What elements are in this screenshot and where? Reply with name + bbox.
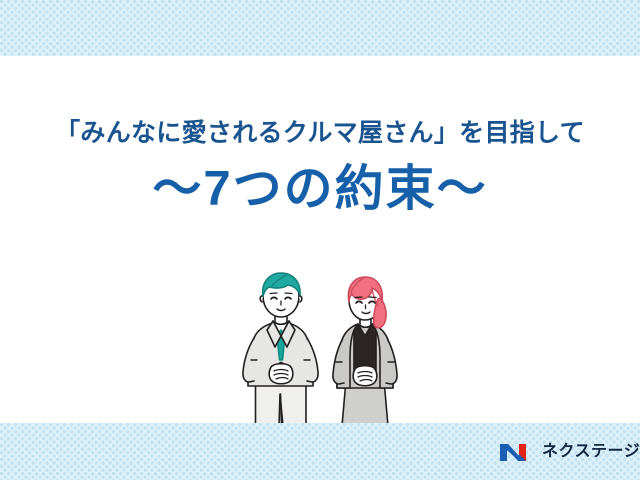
male-staff-figure — [243, 273, 318, 426]
nextage-logo: ネクステージ — [499, 440, 640, 464]
female-staff-figure — [333, 277, 397, 426]
nextage-n-mark — [499, 440, 535, 464]
headline-line-2: 〜7つの約束〜 — [0, 161, 640, 219]
top-decorative-band — [0, 0, 640, 56]
headline-block: 「みんなに愛されるクルマ屋さん」を目指して 〜7つの約束〜 — [0, 118, 640, 219]
slide-canvas: 「みんなに愛されるクルマ屋さん」を目指して 〜7つの約束〜 — [0, 0, 640, 480]
headline-line-1: 「みんなに愛されるクルマ屋さん」を目指して — [0, 118, 640, 149]
two-staff-bowing-illustration — [236, 268, 412, 426]
nextage-logo-text: ネクステージ — [542, 444, 640, 460]
